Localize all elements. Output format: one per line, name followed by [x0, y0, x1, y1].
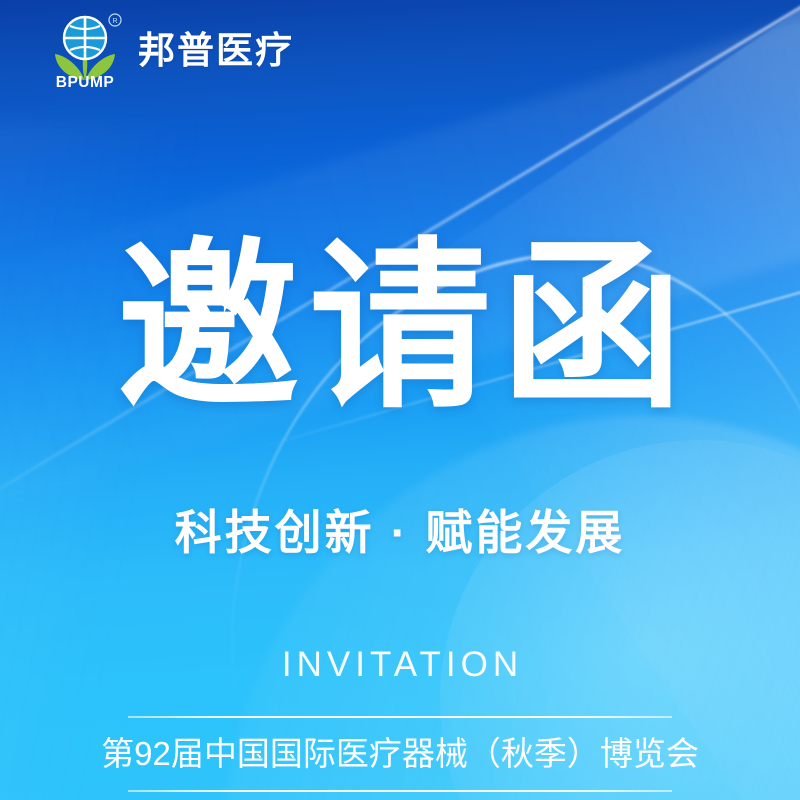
invitation-poster: R BPUMP 邦普医疗 邀请函 科技创新 · 赋能发展 INVITATION … — [0, 0, 800, 800]
event-name: 第92届中国国际医疗器械（秋季）博览会 — [100, 735, 700, 774]
divider-bottom — [128, 790, 672, 792]
bpump-wordmark: BPUMP — [56, 74, 114, 88]
brand-name-cn: 邦普医疗 — [138, 32, 294, 69]
bpump-plant-circle-logo-icon: R BPUMP — [46, 12, 124, 88]
page-title: 邀请函 — [0, 236, 800, 418]
page-subtitle: 科技创新 · 赋能发展 — [0, 509, 800, 556]
event-bar: 第92届中国国际医疗器械（秋季）博览会 — [100, 716, 700, 792]
svg-text:R: R — [112, 18, 117, 25]
brand-header: R BPUMP 邦普医疗 — [46, 12, 294, 88]
divider-top — [128, 716, 672, 718]
background-sheen-left — [0, 120, 200, 800]
page-title-en: INVITATION — [0, 647, 800, 682]
